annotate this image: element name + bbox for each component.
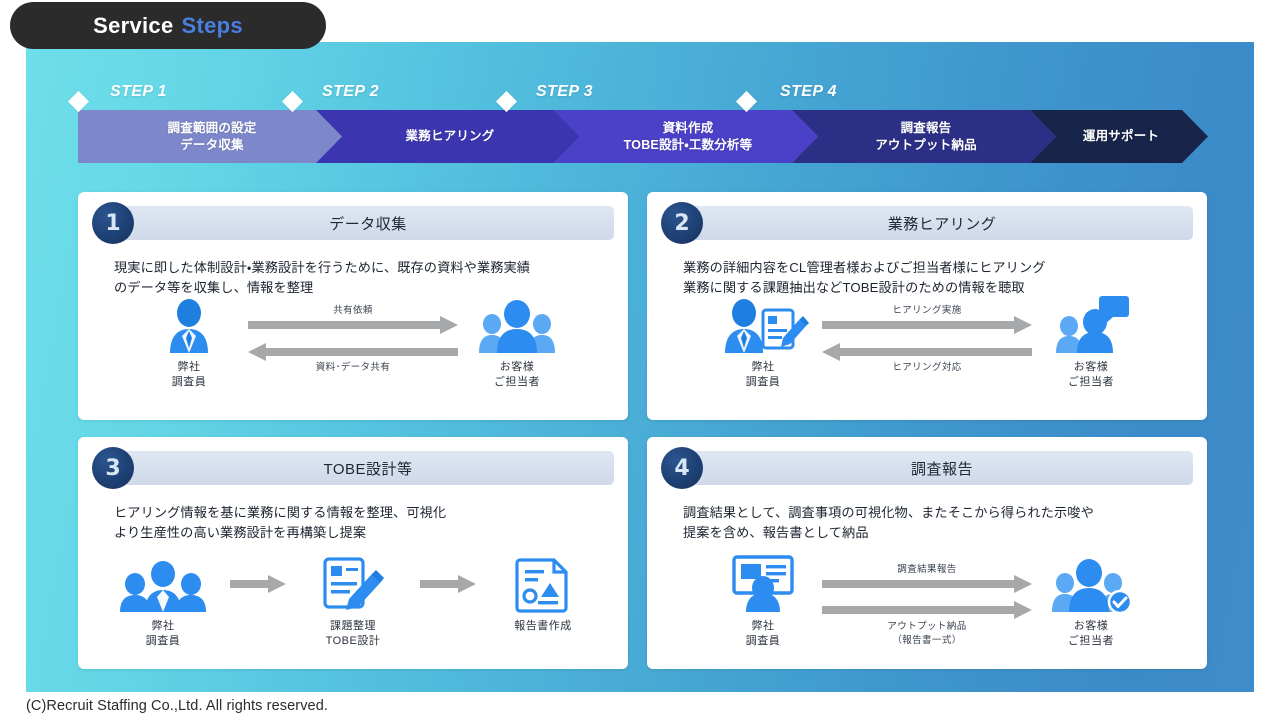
report-document-icon <box>484 555 602 613</box>
document-pencil-icon <box>294 555 412 613</box>
card-1-right-node: お客様 ご担当者 <box>458 296 576 390</box>
arrow-right-icon <box>248 318 458 331</box>
card-3-node-1-caption: 弊社 調査員 <box>104 619 222 649</box>
card-2-title-bar: 業務ヒアリング <box>691 206 1193 240</box>
arrow-right-icon <box>420 577 476 590</box>
step-chevron-1[interactable]: 調査範囲の設定データ収集 <box>78 110 342 163</box>
arrow-right-icon <box>822 318 1032 331</box>
title-primary: Service <box>93 13 173 39</box>
card-1-title: データ収集 <box>329 213 407 234</box>
step-card-3[interactable]: TOBE設計等 3 ヒアリング情報を基に業務に関する情報を整理、可視化 より生産… <box>78 437 628 669</box>
arrow-right-icon <box>822 577 1032 590</box>
card-4-right-node: お客様 ご担当者 <box>1032 555 1150 649</box>
card-2-title: 業務ヒアリング <box>888 213 997 234</box>
arrow-right-icon <box>822 603 1032 616</box>
card-2-left-node: 弊社 調査員 <box>704 296 822 390</box>
step-chevron-5[interactable]: 運用サポート <box>1030 110 1208 163</box>
card-2-left-caption: 弊社 調査員 <box>704 360 822 390</box>
card-1-description: 現実に即した体制設計・業務設計を行うために、既存の資料や業務実績 のデータ等を収… <box>114 258 606 299</box>
step-card-2[interactable]: 業務ヒアリング 2 業務の詳細内容をCL管理者様およびご担当者様にヒアリング 業… <box>647 192 1207 420</box>
card-3-node-1: 弊社 調査員 <box>104 555 222 649</box>
card-2-description: 業務の詳細内容をCL管理者様およびご担当者様にヒアリング 業務に関する課題抽出な… <box>683 258 1185 299</box>
card-2-arrow-top-label: ヒアリング実施 <box>822 304 1032 318</box>
card-3-number-badge: 3 <box>92 447 134 489</box>
step-chevron-4[interactable]: 調査報告アウトプット納品 <box>792 110 1056 163</box>
card-1-number-badge: 1 <box>92 202 134 244</box>
title-accent: Steps <box>181 13 242 39</box>
card-2-flow: 弊社 調査員 ヒアリング実施 ヒアリング対応 <box>647 296 1207 390</box>
step-chevron-3-text: 資料作成TOBE設計・工数分析等 <box>620 120 753 154</box>
card-2-right-node: お客様 ご担当者 <box>1032 296 1150 390</box>
card-1-left-node: 弊社 調査員 <box>130 296 248 390</box>
step-label-4: STEP 4 <box>780 83 837 101</box>
card-3-arrow-1 <box>222 555 294 590</box>
step-chevron-3[interactable]: 資料作成TOBE設計・工数分析等 <box>554 110 818 163</box>
step-chevron-2-text: 業務ヒアリング <box>402 128 495 145</box>
card-2-header: 業務ヒアリング 2 <box>661 202 1193 246</box>
step-chevron-1-text: 調査範囲の設定データ収集 <box>164 120 257 154</box>
card-3-description: ヒアリング情報を基に業務に関する情報を整理、可視化 より生産性の高い業務設計を再… <box>114 503 606 544</box>
step-chevron-5-text: 運用サポート <box>1079 128 1159 145</box>
arrow-right-icon <box>230 577 286 590</box>
card-3-title-bar: TOBE設計等 <box>122 451 614 485</box>
team-group-icon <box>104 555 222 613</box>
card-4-left-caption: 弊社 調査員 <box>704 619 822 649</box>
slide-root: Service Steps STEP 1 STEP 2 STEP 3 STEP … <box>0 0 1280 722</box>
card-4-title-bar: 調査報告 <box>691 451 1193 485</box>
card-4-arrow-top-label: 調査結果報告 <box>822 563 1032 577</box>
arrow-left-icon <box>248 345 458 358</box>
card-4-number-badge: 4 <box>661 447 703 489</box>
people-speech-bubble-icon <box>1032 296 1150 354</box>
card-4-header: 調査報告 4 <box>661 447 1193 491</box>
step-chevron-4-text: 調査報告アウトプット納品 <box>871 120 977 154</box>
step-card-4[interactable]: 調査報告 4 調査結果として、調査事項の可視化物、またそこから得られた示唆や 提… <box>647 437 1207 669</box>
step-label-2: STEP 2 <box>322 83 379 101</box>
card-2-arrows: ヒアリング実施 ヒアリング対応 <box>822 296 1032 375</box>
card-1-header: データ収集 1 <box>92 202 614 246</box>
card-1-title-bar: データ収集 <box>122 206 614 240</box>
card-2-right-caption: お客様 ご担当者 <box>1032 360 1150 390</box>
card-3-node-2-caption: 課題整理 TOBE設計 <box>294 619 412 649</box>
step-label-3: STEP 3 <box>536 83 593 101</box>
card-4-title: 調査報告 <box>911 458 973 479</box>
card-3-node-3-caption: 報告書作成 <box>484 619 602 634</box>
step-ribbon: 調査範囲の設定データ収集 業務ヒアリング 資料作成TOBE設計・工数分析等 調査… <box>78 110 1208 163</box>
card-1-flow: 弊社 調査員 共有依頼 資料･データ共有 <box>78 296 628 390</box>
card-3-node-2: 課題整理 TOBE設計 <box>294 555 412 649</box>
step-card-1[interactable]: データ収集 1 現実に即した体制設計・業務設計を行うために、既存の資料や業務実績… <box>78 192 628 420</box>
title-pill: Service Steps <box>10 2 326 49</box>
card-4-flow: 弊社 調査員 調査結果報告 アウトプット納品 （報告書一式） <box>647 555 1207 649</box>
step-chevron-2[interactable]: 業務ヒアリング <box>316 110 580 163</box>
card-1-arrow-bottom-label: 資料･データ共有 <box>248 361 458 375</box>
arrow-left-icon <box>822 345 1032 358</box>
card-3-title: TOBE設計等 <box>323 458 412 479</box>
card-4-arrows: 調査結果報告 アウトプット納品 （報告書一式） <box>822 555 1032 648</box>
card-3-node-3: 報告書作成 <box>484 555 602 634</box>
card-3-flow: 弊社 調査員 <box>78 555 628 649</box>
people-group-icon <box>458 296 576 354</box>
card-1-arrow-top-label: 共有依頼 <box>248 304 458 318</box>
card-4-arrow-bottom-label: アウトプット納品 <box>822 620 1032 634</box>
businessperson-icon <box>130 296 248 354</box>
card-1-left-caption: 弊社 調査員 <box>130 360 248 390</box>
card-2-number-badge: 2 <box>661 202 703 244</box>
card-3-header: TOBE設計等 3 <box>92 447 614 491</box>
people-check-icon <box>1032 555 1150 613</box>
presentation-person-icon <box>704 555 822 613</box>
step-label-1: STEP 1 <box>110 83 167 101</box>
card-4-right-caption: お客様 ご担当者 <box>1032 619 1150 649</box>
card-3-arrow-2 <box>412 555 484 590</box>
person-with-document-icon <box>704 296 822 354</box>
card-1-right-caption: お客様 ご担当者 <box>458 360 576 390</box>
card-4-left-node: 弊社 調査員 <box>704 555 822 649</box>
footer-copyright: (C)Recruit Staffing Co.,Ltd. All rights … <box>26 698 328 714</box>
card-2-arrow-bottom-label: ヒアリング対応 <box>822 361 1032 375</box>
card-4-arrow-bottom-label2: （報告書一式） <box>822 634 1032 648</box>
card-1-arrows: 共有依頼 資料･データ共有 <box>248 296 458 375</box>
card-4-description: 調査結果として、調査事項の可視化物、またそこから得られた示唆や 提案を含め、報告… <box>683 503 1185 544</box>
